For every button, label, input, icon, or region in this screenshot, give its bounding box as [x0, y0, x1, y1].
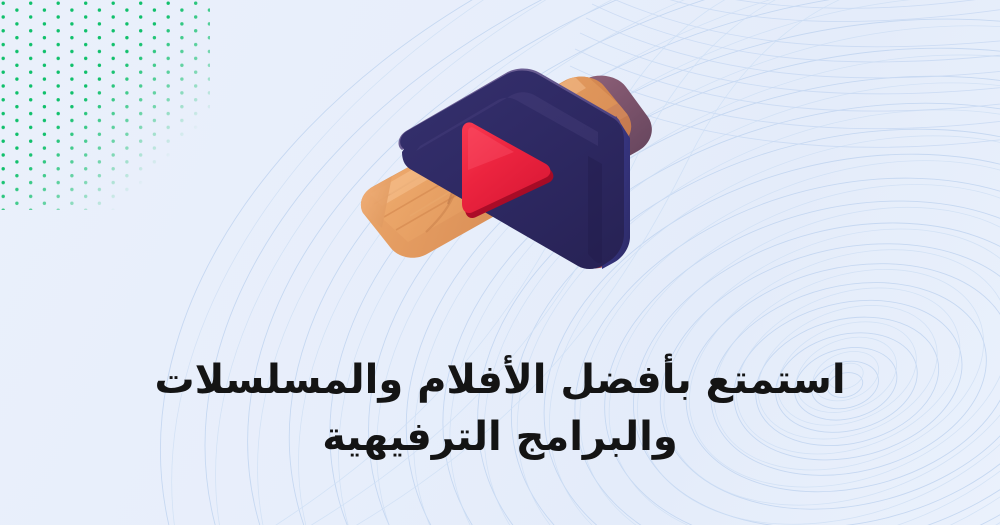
page-headline: استمتع بأفضل الأفلام والمسلسلات والبرامج…: [0, 352, 1000, 466]
headline-line-2: والبرامج الترفيهية: [70, 409, 930, 466]
banner-root: استمتع بأفضل الأفلام والمسلسلات والبرامج…: [0, 0, 1000, 525]
headline-line-1: استمتع بأفضل الأفلام والمسلسلات: [70, 352, 930, 409]
